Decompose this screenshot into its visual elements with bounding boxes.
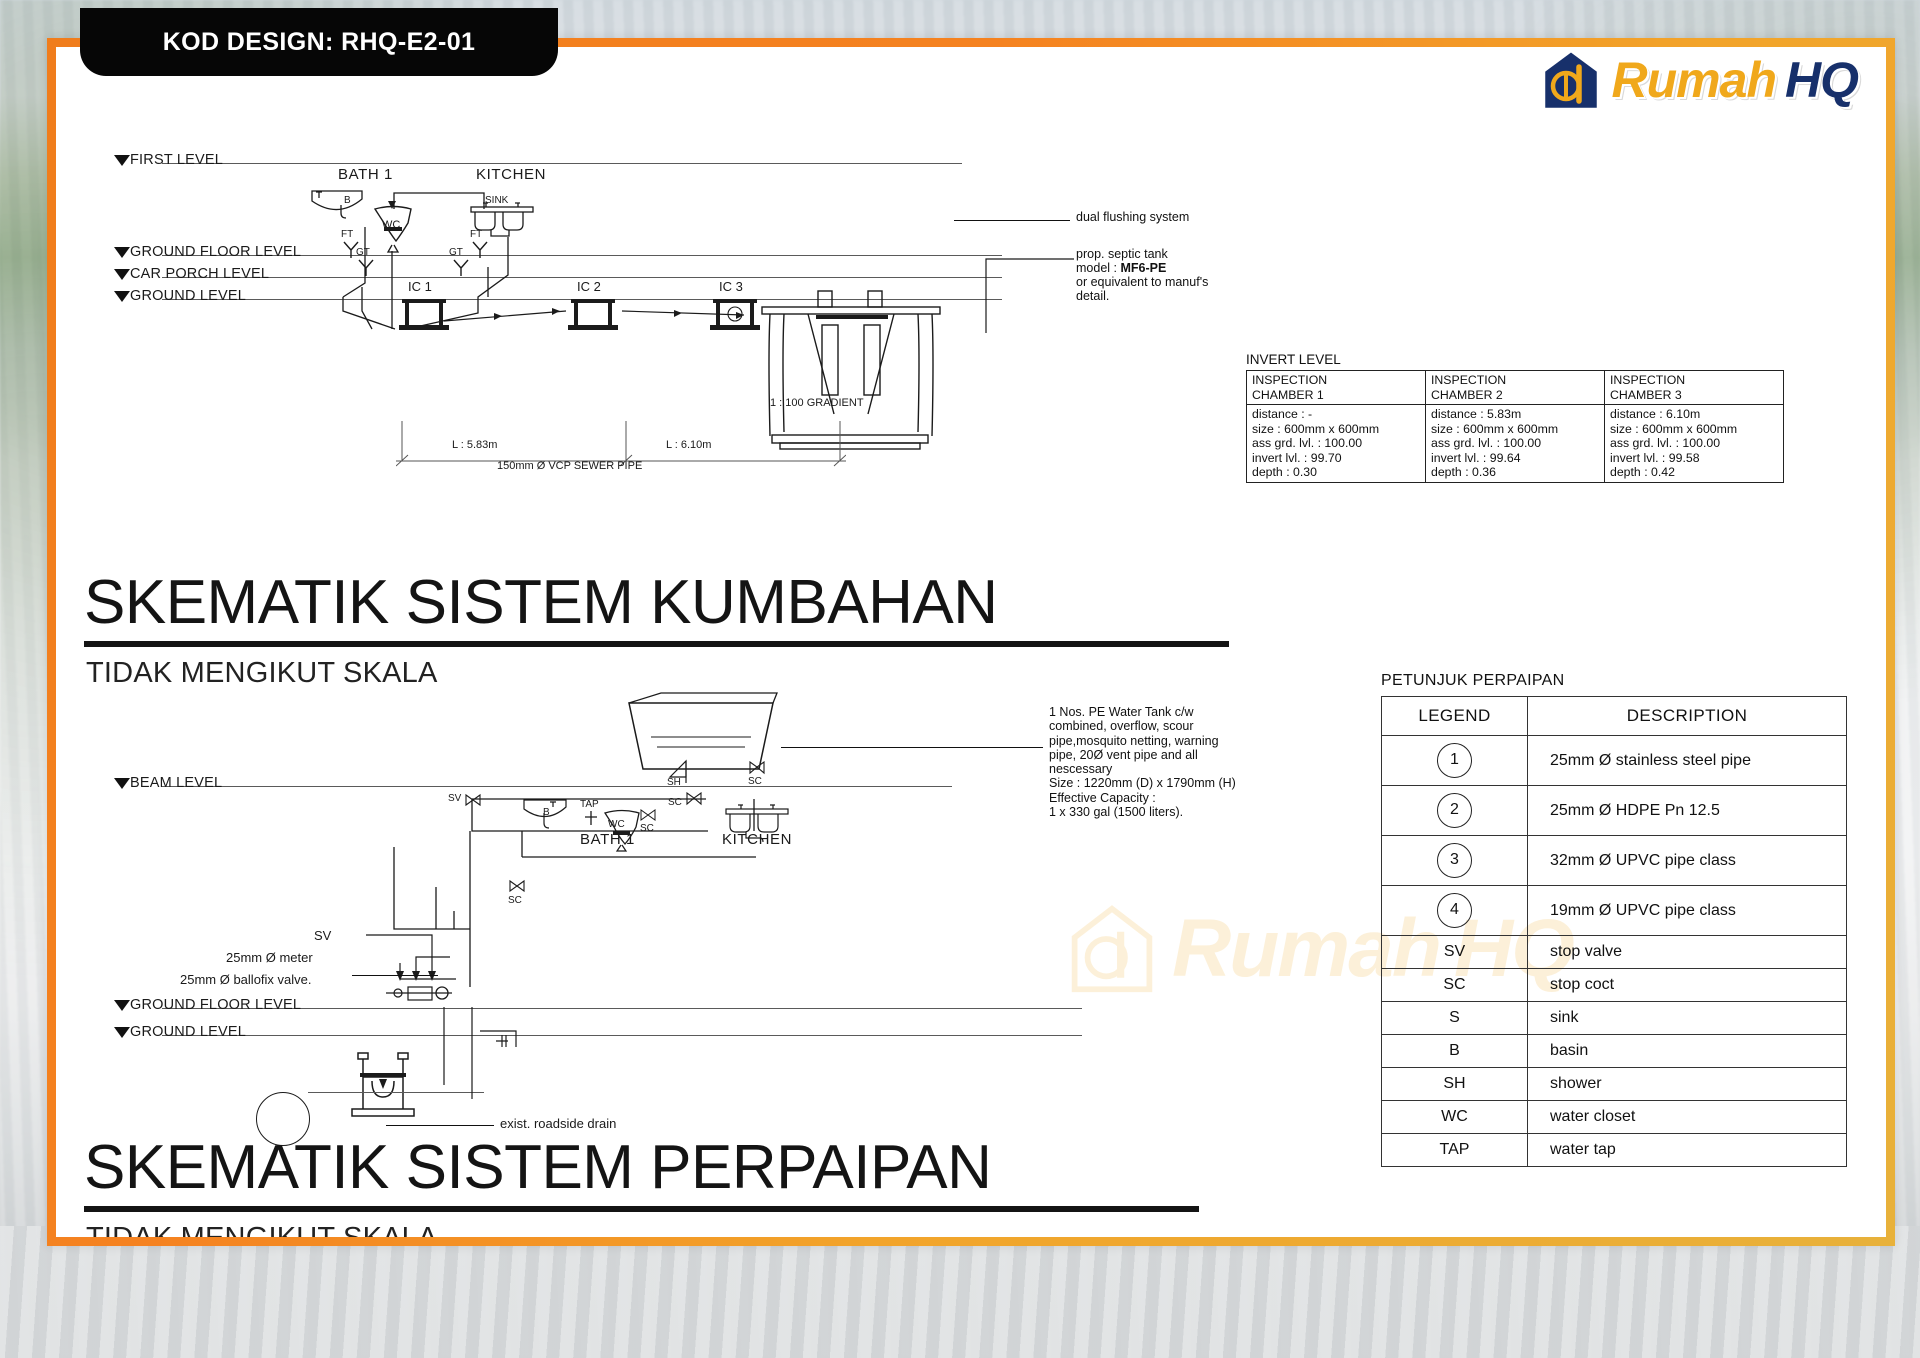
legend-row: TAP water tap [1382,1134,1847,1167]
chamber-label-ic2: IC 2 [577,279,601,294]
legend-symbol-sv: SV [1382,936,1528,969]
invert-ic3-size: size : 600mm x 600mm [1610,422,1778,437]
drawing-frame: Rumah HQ FIRST LEVEL GROUND FLOOR LEVEL … [47,38,1895,1246]
leader-ballofix [352,975,438,976]
plumb-tag-wc: WC [608,819,625,830]
title-plumbing-sub: TIDAK MENGIKUT SKALA [86,1222,438,1237]
watermark-logo-icon [1066,903,1158,995]
water-tap-icon [583,809,599,827]
plumb-callout-meter: 25mm Ø meter [226,950,313,965]
brand-logo: Rumah HQ [1539,48,1858,112]
invert-ic3-distance: distance : 6.10m [1610,407,1778,422]
title-sewer-rule [84,641,1229,647]
meter-assembly-icon [386,981,466,1005]
note-septic-l1: prop. septic tank [1076,247,1168,261]
legend-symbol-1: 1 [1382,736,1528,786]
chamber-label-ic3: IC 3 [719,279,743,294]
legend-symbol-b: B [1382,1035,1528,1068]
level-label-ground-floor: GROUND FLOOR LEVEL [130,244,301,260]
invert-level-caption: INVERT LEVEL [1246,352,1784,367]
legend-desc-wc: water closet [1528,1101,1847,1134]
invert-body-row: distance : - size : 600mm x 600mm ass gr… [1247,405,1784,483]
legend-caption: PETUNJUK PERPAIPAN [1381,672,1847,690]
level-line-first [162,163,962,164]
legend-row: SC stop coct [1382,969,1847,1002]
legend-desc-sh: shower [1528,1068,1847,1101]
level-marker-beam-icon [114,778,130,789]
level-marker-plumb-g-icon [114,1027,130,1038]
plumb-callout-ballofix: 25mm Ø ballofix valve. [180,972,312,987]
invert-cell-ic2: distance : 5.83m size : 600mm x 600mm as… [1426,405,1605,483]
invert-level-table: INSPECTION CHAMBER 1 INSPECTION CHAMBER … [1246,370,1784,483]
legend-row: B basin [1382,1035,1847,1068]
brand-text-hq: HQ [1785,55,1858,105]
note-dual-flushing: dual flushing system [1076,210,1189,224]
legend-row: SH shower [1382,1068,1847,1101]
legend-table-wrapper: PETUNJUK PERPAIPAN LEGEND DESCRIPTION 1 … [1381,672,1847,1167]
legend-circle-4: 4 [1437,893,1472,928]
leader-roadside-drain [386,1125,494,1126]
plumb-tag-sc-bath: SC [508,895,522,906]
legend-row: 1 25mm Ø stainless steel pipe [1382,736,1847,786]
sewer-runs [444,299,774,329]
note-septic-l2-pre: model : [1076,261,1120,275]
legend-circle-2: 2 [1437,793,1472,828]
plumb-sink-icon [724,803,790,847]
drawing-sheet: Rumah HQ FIRST LEVEL GROUND FLOOR LEVEL … [56,47,1886,1237]
note-septic-l3: or equivalent to manuf's [1076,275,1208,289]
invert-ic1-size: size : 600mm x 600mm [1252,422,1420,437]
leader-septic-tank [974,255,1078,335]
invert-cell-ic1: distance : - size : 600mm x 600mm ass gr… [1247,405,1426,483]
stop-coct-kitchen-icon [748,761,766,775]
level-label-first: FIRST LEVEL [130,152,223,168]
note-pipe-spec: 150mm Ø VCP SEWER PIPE [497,460,642,472]
leader-water-tank [781,747,1043,748]
note-septic-line2: model : MF6-PE [1076,261,1166,275]
level-marker-ground-icon [114,291,130,302]
kod-design-text: KOD DESIGN: RHQ-E2-01 [163,28,476,57]
legend-desc-b: basin [1528,1035,1847,1068]
invert-header-ic1: INSPECTION CHAMBER 1 [1247,371,1426,405]
plumb-callout-sv: SV [314,928,331,943]
note-water-tank: 1 Nos. PE Water Tank c/w combined, overf… [1049,705,1236,819]
legend-header-row: LEGEND DESCRIPTION [1382,697,1847,736]
invert-ic2-distance: distance : 5.83m [1431,407,1599,422]
legend-desc-3: 32mm Ø UPVC pipe class [1528,836,1847,886]
plumb-tag-sh: SH [667,777,681,788]
legend-desc-sv: stop valve [1528,936,1847,969]
title-sewer-main: SKEMATIK SISTEM KUMBAHAN [84,567,998,638]
legend-header-legend: LEGEND [1382,697,1528,736]
invert-ic2-size: size : 600mm x 600mm [1431,422,1599,437]
stop-coct-bath-icon [508,879,526,893]
chamber-label-ic1: IC 1 [408,279,432,294]
level-label-plumb-ground-floor: GROUND FLOOR LEVEL [130,997,301,1013]
invert-ic3-invert: invert lvl. : 99.58 [1610,451,1778,466]
invert-header-ic2: INSPECTION CHAMBER 2 [1426,371,1605,405]
invert-ic1-invert: invert lvl. : 99.70 [1252,451,1420,466]
level-marker-first-icon [114,155,130,166]
invert-header-ic3: INSPECTION CHAMBER 3 [1605,371,1784,405]
invert-ic1-distance: distance : - [1252,407,1420,422]
legend-symbol-3: 3 [1382,836,1528,886]
note-roadside-drain: exist. roadside drain [500,1116,616,1131]
level-label-plumb-ground: GROUND LEVEL [130,1024,246,1040]
level-marker-plumb-gf-icon [114,1000,130,1011]
dimension-length-2: L : 6.10m [666,439,711,451]
title-sewer-sub: TIDAK MENGIKUT SKALA [86,657,438,690]
invert-ic2-invert: invert lvl. : 99.64 [1431,451,1599,466]
legend-symbol-s: S [1382,1002,1528,1035]
invert-cell-ic3: distance : 6.10m size : 600mm x 600mm as… [1605,405,1784,483]
invert-ic3-grd: ass grd. lvl. : 100.00 [1610,436,1778,451]
invert-ic3-depth: depth : 0.42 [1610,465,1778,480]
note-septic-l4: detail. [1076,289,1109,303]
note-gradient: 1 : 100 GRADIENT [770,397,864,409]
legend-desc-tap: water tap [1528,1134,1847,1167]
note-septic-model: MF6-PE [1120,261,1166,275]
legend-row: 4 19mm Ø UPVC pipe class [1382,886,1847,936]
legend-row: 3 32mm Ø UPVC pipe class [1382,836,1847,886]
legend-symbol-2: 2 [1382,786,1528,836]
plumb-tag-sc-kitchen: SC [748,776,762,787]
house-monogram-icon [1539,48,1603,112]
plumb-tag-sc-wc: SC [640,823,654,834]
legend-symbol-4: 4 [1382,886,1528,936]
level-label-car-porch: CAR PORCH LEVEL [130,266,269,282]
legend-desc-2: 25mm Ø HDPE Pn 12.5 [1528,786,1847,836]
level-label-ground: GROUND LEVEL [130,288,246,304]
legend-row: S sink [1382,1002,1847,1035]
legend-symbol-sh: SH [1382,1068,1528,1101]
legend-desc-4: 19mm Ø UPVC pipe class [1528,886,1847,936]
dimension-length-1: L : 5.83m [452,439,497,451]
invert-ic1-depth: depth : 0.30 [1252,465,1420,480]
plumb-wc-icon [602,807,642,853]
stop-coct-shower-icon [686,792,702,806]
title-plumbing-main: SKEMATIK SISTEM PERPAIPAN [84,1132,991,1203]
legend-circle-1: 1 [1437,743,1472,778]
title-plumbing-rule [84,1206,1199,1212]
legend-table: LEGEND DESCRIPTION 1 25mm Ø stainless st… [1381,696,1847,1167]
invert-ic1-grd: ass grd. lvl. : 100.00 [1252,436,1420,451]
invert-ic2-depth: depth : 0.36 [1431,465,1599,480]
legend-circle-3: 3 [1437,843,1472,878]
invert-ic2-grd: ass grd. lvl. : 100.00 [1431,436,1599,451]
level-marker-car-porch-icon [114,269,130,280]
legend-symbol-sc: SC [1382,969,1528,1002]
legend-header-description: DESCRIPTION [1528,697,1847,736]
legend-symbol-wc: WC [1382,1101,1528,1134]
brand-text-rumah: Rumah [1612,55,1776,105]
legend-desc-1: 25mm Ø stainless steel pipe [1528,736,1847,786]
plumb-tag-sc-shower: SC [668,797,682,808]
stop-coct-wc-icon [640,809,656,822]
leader-dual-flushing [954,220,1070,221]
legend-desc-s: sink [1528,1002,1847,1035]
legend-row: SV stop valve [1382,936,1847,969]
legend-desc-sc: stop coct [1528,969,1847,1002]
legend-row: 2 25mm Ø HDPE Pn 12.5 [1382,786,1847,836]
level-marker-ground-floor-icon [114,247,130,258]
kod-design-tag: KOD DESIGN: RHQ-E2-01 [80,8,558,76]
legend-row: WC water closet [1382,1101,1847,1134]
plumb-drop-pipes [436,1007,556,1117]
level-label-beam: BEAM LEVEL [130,775,222,791]
legend-symbol-tap: TAP [1382,1134,1528,1167]
invert-level-table-wrapper: INVERT LEVEL INSPECTION CHAMBER 1 INSPEC… [1246,352,1784,483]
invert-header-row: INSPECTION CHAMBER 1 INSPECTION CHAMBER … [1247,371,1784,405]
plumb-tag-basin: B [543,807,550,818]
